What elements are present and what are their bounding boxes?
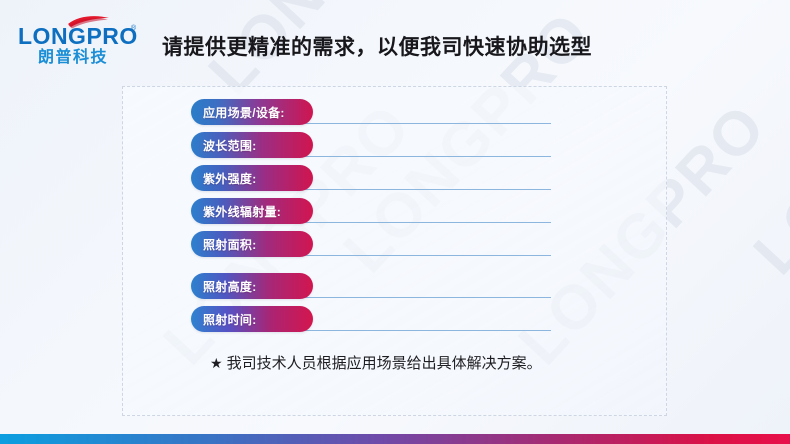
field-label-pill: 波长范围: (191, 132, 313, 158)
requirement-field-row: 照射时间: (123, 306, 666, 339)
field-label-text: 照射时间: (203, 311, 257, 328)
svg-text:®: ® (131, 24, 137, 32)
field-label-text: 照射面积: (203, 236, 257, 253)
footer-note-text: 我司技术人员根据应用场景给出具体解决方案。 (227, 355, 542, 372)
field-label-text: 紫外强度: (203, 170, 257, 187)
longpro-swoosh-logo-icon: LONGPRO ® 朗普科技 (16, 14, 144, 66)
field-label-pill: 照射高度: (191, 273, 313, 299)
watermark-text: LONGPRO (740, 1, 790, 289)
field-label-text: 波长范围: (203, 137, 257, 154)
watermark-text: LONGPRO (625, 0, 790, 8)
field-value-input[interactable] (301, 156, 551, 157)
bottom-accent-bar (0, 434, 790, 444)
field-value-input[interactable] (301, 123, 551, 124)
field-label-text: 应用场景/设备: (203, 104, 285, 121)
field-value-input[interactable] (301, 255, 551, 256)
requirement-field-row: 波长范围: (123, 132, 666, 165)
field-label-pill: 紫外线辐射量: (191, 198, 313, 224)
field-value-input[interactable] (301, 222, 551, 223)
field-value-input[interactable] (301, 189, 551, 190)
requirement-field-row: 照射高度: (123, 273, 666, 306)
requirement-field-row: 紫外线辐射量: (123, 198, 666, 231)
field-label-text: 紫外线辐射量: (203, 203, 281, 220)
page-title: 请提供更精准的需求，以便我司快速协助选型 (162, 31, 592, 61)
field-label-pill: 照射面积: (191, 231, 313, 257)
brand-logo: LONGPRO ® 朗普科技 (16, 14, 144, 66)
star-icon: ★ (210, 355, 223, 371)
svg-text:LONGPRO: LONGPRO (18, 23, 138, 49)
requirement-field-row: 紫外强度: (123, 165, 666, 198)
field-label-pill: 照射时间: (191, 306, 313, 332)
requirement-field-row: 应用场景/设备: (123, 99, 666, 132)
requirement-field-row: 照射面积: (123, 231, 666, 264)
footer-note: ★我司技术人员根据应用场景给出具体解决方案。 (210, 352, 542, 373)
field-value-input[interactable] (301, 297, 551, 298)
svg-text:朗普科技: 朗普科技 (38, 47, 108, 66)
field-label-pill: 应用场景/设备: (191, 99, 313, 125)
field-value-input[interactable] (301, 330, 551, 331)
field-label-pill: 紫外强度: (191, 165, 313, 191)
field-label-text: 照射高度: (203, 278, 257, 295)
